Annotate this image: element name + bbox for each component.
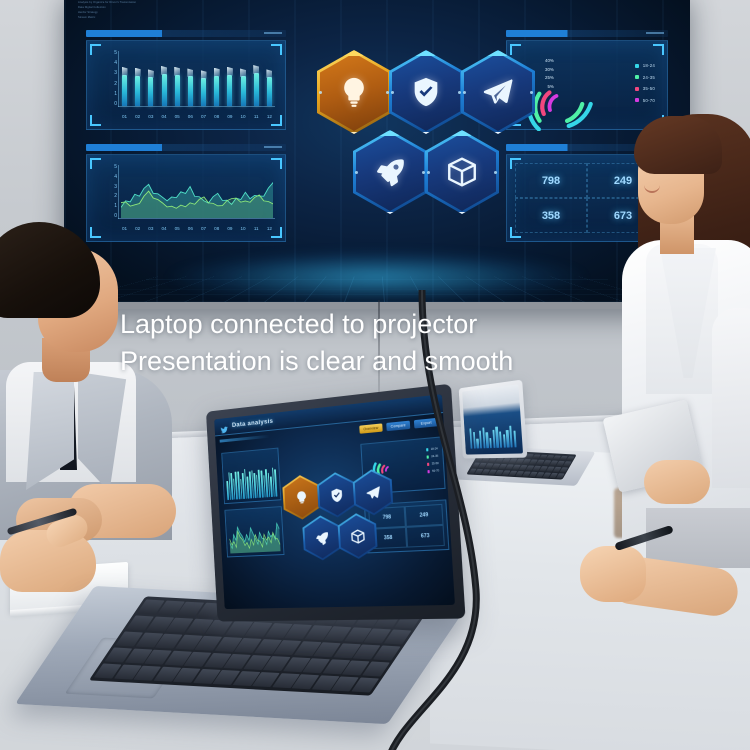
bar-flag [240,68,246,77]
key[interactable] [563,461,571,466]
hex-tile-rocket[interactable] [353,130,427,214]
hair-front [634,116,722,174]
key[interactable] [556,473,564,478]
x-tick: 07 [200,226,207,231]
bar-chart-panel: 5 4 3 2 1 0 010203040506070809101112 [86,30,286,128]
y-tick: 2 [114,82,117,87]
legend-swatch [426,448,429,451]
x-tick: 08 [213,114,220,119]
bar-flag [253,65,259,74]
arc-50-70 [549,95,557,111]
cube-icon [349,528,366,545]
legend-label: 18-24 [643,63,655,68]
laptop-hex-rocket[interactable] [302,514,342,561]
y-tick: 1 [114,92,117,97]
bar [135,76,140,106]
laptop-hex-send[interactable] [352,468,394,517]
legend-item: 35-50 [427,462,439,466]
bar [201,78,206,106]
hex-dot-right [386,91,389,94]
pct-label: 30% [545,66,554,75]
y-axis-line [118,51,119,107]
bar [482,428,485,449]
compare-button[interactable]: Compare [386,421,410,432]
shield-check-icon [328,486,344,503]
caption-line-1: Laptop connected to projector [120,306,720,343]
pct-label: 5% [545,83,554,92]
bar-chart-x-axis: 010203040506070809101112 [121,114,273,119]
hex-tile-send[interactable] [461,50,535,134]
fist [580,546,646,602]
legend-label: 18-24 [431,447,438,451]
legend-item: 18-24 [426,447,438,451]
bird-logo-icon [220,422,229,431]
laptop-app-title: Data analysis [232,418,274,429]
y-tick: 2 [114,194,117,199]
bar-column [174,53,181,106]
x-tick: 02 [134,114,141,119]
legend-item: 24-35 [426,455,438,459]
bar [479,430,482,448]
bar-flag [161,66,167,75]
laptop-area-series [228,510,280,553]
legend-label: 24-35 [643,75,655,80]
area-chart-y-axis: 5 4 3 2 1 0 [105,165,117,219]
hexagon-icon-cluster [317,40,532,225]
hex-tab [413,51,437,56]
bar-flag [266,69,272,78]
bar-column [187,53,194,106]
title-underbar [220,435,270,443]
legend-swatch [635,75,639,79]
screen-micro-text: HDT Analysis by Organize for Driver's Tr… [78,0,198,21]
kpi-cell: 249 [405,504,444,527]
bar [499,432,502,448]
hex-tab [449,131,473,136]
x-tick: 05 [174,114,181,119]
legend-swatch [427,470,430,473]
bar-flag [214,68,220,77]
corner-mark-tr [653,44,664,55]
export-button[interactable]: Export [414,418,439,429]
bar [241,76,246,106]
x-tick: 06 [187,114,194,119]
bar [473,432,476,449]
rocket-icon [313,529,329,546]
shield-check-icon [409,75,443,109]
bar-column [200,53,207,106]
x-axis-line [118,218,275,219]
hex-tile-shield[interactable] [389,50,463,134]
y-tick: 4 [114,61,117,66]
area-series [121,167,273,218]
x-tick: 11 [253,226,260,231]
x-tick: 10 [240,114,247,119]
hex-tab [341,51,365,56]
x-tick: 09 [226,226,233,231]
legend-label: 24-35 [431,455,438,459]
hex-tile-lightbulb[interactable] [317,50,391,134]
panel-header [86,30,286,37]
bar [148,77,153,106]
bar-series [121,53,273,106]
legend-label: 50-70 [432,469,439,473]
corner-mark-tl [90,158,101,169]
legend-swatch [635,87,639,91]
corner-mark-tl [90,44,101,55]
x-tick: 09 [226,114,233,119]
x-tick: 12 [266,114,273,119]
x-tick: 08 [213,226,220,231]
y-tick: 1 [114,204,117,209]
x-tick: 01 [121,114,128,119]
bar [486,432,489,448]
hex-foot [417,132,435,141]
bar-flag [201,70,207,79]
legend-swatch [635,64,639,68]
hair [0,222,100,318]
mini-bar-chart [469,414,517,449]
paper-plane-icon [364,484,381,501]
hex-dot-right [530,91,533,94]
y-axis-line [118,165,119,219]
legend-label: 50-70 [643,98,655,103]
bar-column [147,53,154,106]
bar [188,76,193,106]
floor-glow [167,250,587,302]
hex-foot [453,212,471,221]
hex-dot-right [458,91,461,94]
bar-column [266,53,273,106]
hex-dot-left [391,91,394,94]
bar [254,73,259,106]
pct-label: 25% [545,74,554,83]
laptop-lid: Data analysis Overview Compare Export [206,384,466,622]
bar [214,76,219,106]
laptop-area-svg [228,510,280,553]
laptop-lid [459,380,528,459]
bar [513,431,516,447]
bar-flag [148,69,154,78]
key[interactable] [566,456,574,461]
bar-column [240,53,247,106]
hex-foot [381,212,399,221]
bar-column [121,53,128,106]
overview-button[interactable]: Overview [359,423,382,433]
bar-flag [227,67,233,76]
y-tick: 0 [114,102,117,107]
y-tick: 5 [114,51,117,56]
key[interactable] [560,467,568,472]
laptop-hex-shield[interactable] [316,471,356,519]
laptop-hex-cube[interactable] [337,512,378,560]
hex-dot-left [355,171,358,174]
legend-label: 35-50 [643,86,655,91]
hex-foot [345,132,363,141]
panel-header [506,30,668,37]
legend-item: 50-70 [427,469,439,473]
y-tick: 5 [114,165,117,170]
bar-column [134,53,141,106]
legend-item: 50-70 [635,98,655,103]
x-tick: 10 [240,226,247,231]
laptop-hex-lightbulb[interactable] [282,474,321,521]
primary-laptop: Data analysis Overview Compare Export [48,398,468,728]
bar [122,75,127,106]
bar-flag [122,67,128,76]
x-tick: 06 [187,226,194,231]
laptop-bar-series [225,452,277,500]
x-tick: 04 [161,114,168,119]
area-chart-svg [121,167,273,218]
hex-dot-right [422,171,425,174]
legend-swatch [426,456,429,459]
pct-label: 40% [545,57,554,66]
laptop-area-chart-panel [224,506,284,557]
x-tick: 11 [253,114,260,119]
x-tick: 12 [266,226,273,231]
hand [644,460,710,504]
lightbulb-icon [337,75,371,109]
kpi-cell: 673 [406,525,445,548]
y-tick: 3 [114,71,117,76]
bar-column [213,53,220,106]
arc-percent-labels: 40% 30% 25% 5% [545,57,554,91]
x-tick: 07 [200,114,207,119]
rocket-icon [373,155,407,189]
bar-flag [135,68,141,77]
hex-dot-left [319,91,322,94]
bar [509,426,513,447]
cube-icon [445,155,479,189]
x-axis-line [118,106,275,107]
legend-swatch [635,98,639,102]
legend-swatch [427,463,430,466]
pen [614,525,674,551]
panel-body: 5 4 3 2 1 0 010203040506070809101112 [86,40,286,130]
lightbulb-icon [293,489,309,506]
hex-dot-left [463,91,466,94]
scene-root: HDT Analysis by Organize for Driver's Tr… [0,0,750,750]
bar-column [161,53,168,106]
bar [476,439,478,449]
hex-dot-right [494,171,497,174]
hex-foot [489,132,507,141]
hex-dot-left [427,171,430,174]
panel-tick [264,146,282,148]
legend-item: 18-24 [635,63,655,68]
legend-item: 24-35 [635,75,655,80]
bar [274,469,277,496]
overlay-caption: Laptop connected to projector Presentati… [120,306,720,379]
laptop-screen [462,384,523,454]
bar [503,435,506,448]
laptop-legend: 18-24 24-35 35-50 50-70 [426,447,440,477]
chart-legend: 18-24 24-35 35-50 50-70 [635,63,655,109]
y-tick: 3 [114,185,117,190]
hand-with-pen-right [578,528,728,638]
hex-tile-cube[interactable] [425,130,499,214]
kpi-value: 358 [542,210,560,222]
kpi-value: 798 [542,175,560,187]
panel-header [86,144,286,151]
hex-tab [377,131,401,136]
y-tick: 4 [114,175,117,180]
corner-mark-bl [90,115,101,126]
hex-tab [485,51,509,56]
x-tick: 03 [147,114,154,119]
legend-item: 35-50 [635,86,655,91]
bar [227,75,232,106]
laptop-screen: Data analysis Overview Compare Export [214,394,455,609]
bar-chart-y-axis: 5 4 3 2 1 0 [105,51,117,107]
bar-flag [174,67,180,76]
bar-column [253,53,260,106]
paper-plane-icon [481,75,515,109]
laptop-bar-chart-panel [221,448,281,505]
bar [489,438,492,448]
panel-tick [264,32,282,34]
bar [495,427,498,448]
bar [162,74,167,106]
bar-chart: 5 4 3 2 1 0 010203040506070809101112 [105,51,275,121]
y-tick: 0 [114,214,117,219]
laptop-hexagon-cluster [281,462,395,571]
bar [175,75,180,106]
caption-line-2: Presentation is clear and smooth [120,343,720,380]
bar [267,77,272,106]
bar-column [226,53,233,106]
legend-label: 35-50 [432,462,439,466]
bar-flag [187,68,193,77]
laptop-app-titlebar: Data analysis [214,394,449,436]
panel-tick [646,32,664,34]
